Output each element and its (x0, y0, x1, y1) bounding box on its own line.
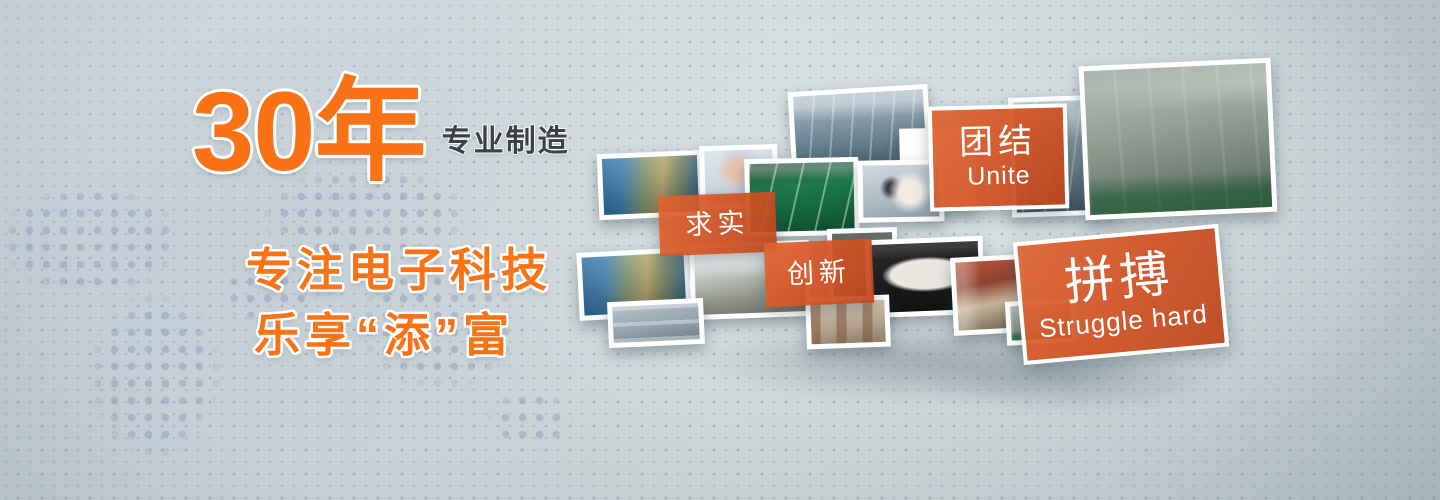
value-panel-cjk: 拼搏 (1062, 247, 1176, 310)
photo-image (810, 300, 885, 345)
value-panel-chuangxin: 创新 (764, 239, 875, 308)
photo-image (1084, 63, 1272, 215)
value-panel-en: Unite (967, 161, 1031, 192)
photo-image (863, 164, 940, 217)
value-panel-cjk: 团结 (959, 123, 1038, 161)
value-panel-en: Struggle hard (1038, 298, 1209, 344)
value-panel-pinbo: 拼搏 Struggle hard (1013, 224, 1229, 365)
value-panel-qiushi: 求实 (658, 192, 777, 256)
photo-collage: 求实 创新 团结 Unite 拼搏 Struggle hard (0, 0, 1440, 500)
promo-banner: 30 年 专业制造 专注电子科技 乐享“添”富 求实 创新 (0, 0, 1440, 500)
value-panel-cjk: 创新 (786, 257, 851, 288)
value-panel-tuanjie: 团结 Unite (928, 103, 1070, 211)
photo-tile-shelf (607, 298, 705, 348)
value-panel-cjk: 求实 (685, 208, 750, 239)
photo-image (612, 303, 700, 343)
photo-tile-bigsmt (1079, 58, 1278, 221)
